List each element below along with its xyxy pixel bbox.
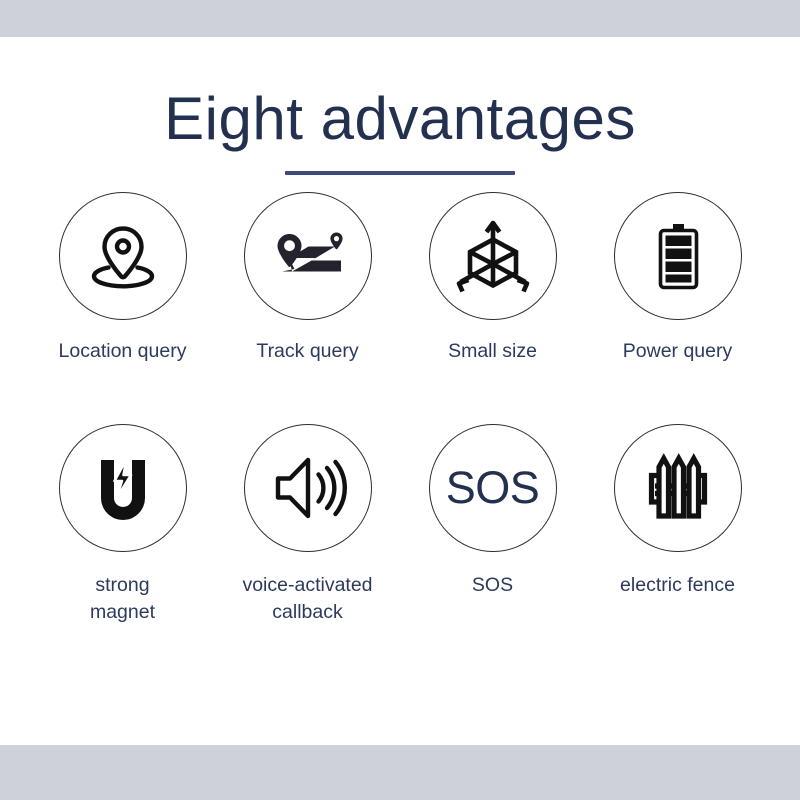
advantage-label: Power query (623, 338, 732, 365)
advantage-item-small-size[interactable]: Small size (400, 192, 585, 365)
advantages-page: Eight advantages Location (0, 0, 800, 800)
top-gray-band (0, 0, 800, 37)
advantage-item-track-query[interactable]: Track query (215, 192, 400, 365)
horseshoe-magnet-icon (81, 446, 165, 530)
icon-circle (244, 424, 372, 552)
icon-circle (244, 192, 372, 320)
advantage-label: SOS (472, 572, 513, 599)
location-pin-icon (82, 215, 164, 297)
advantage-item-power-query[interactable]: Power query (585, 192, 770, 365)
picket-fence-icon (637, 447, 719, 529)
icon-circle (59, 192, 187, 320)
title-block: Eight advantages (0, 87, 800, 175)
advantages-grid: Location query (30, 192, 770, 626)
advantages-row-1: Location query (30, 192, 770, 365)
title-underline (285, 171, 515, 175)
advantage-item-strong-magnet[interactable]: strong magnet (30, 424, 215, 626)
icon-circle (614, 424, 742, 552)
speaker-sound-waves-icon (265, 445, 351, 531)
advantage-item-sos[interactable]: SOS SOS (400, 424, 585, 626)
bottom-gray-band (0, 745, 800, 800)
advantage-label: strong magnet (90, 572, 155, 626)
icon-circle: SOS (429, 424, 557, 552)
battery-full-icon (638, 216, 718, 296)
advantage-label: Track query (256, 338, 358, 365)
page-title: Eight advantages (0, 87, 800, 150)
advantage-label: electric fence (620, 572, 735, 599)
content-area: Eight advantages Location (0, 37, 800, 745)
advantages-row-2: strong magnet voice-activ (30, 424, 770, 626)
advantage-label: voice-activated callback (242, 572, 372, 626)
sos-text-icon: SOS (446, 465, 540, 510)
advantage-label: Location query (59, 338, 187, 365)
advantage-item-voice-activated-callback[interactable]: voice-activated callback (215, 424, 400, 626)
advantage-label: Small size (448, 338, 537, 365)
advantage-item-electric-fence[interactable]: electric fence (585, 424, 770, 626)
icon-circle (614, 192, 742, 320)
3d-cube-dimensions-icon (449, 212, 537, 300)
icon-circle (59, 424, 187, 552)
icon-circle (429, 192, 557, 320)
route-track-icon (265, 213, 351, 299)
advantage-item-location-query[interactable]: Location query (30, 192, 215, 365)
